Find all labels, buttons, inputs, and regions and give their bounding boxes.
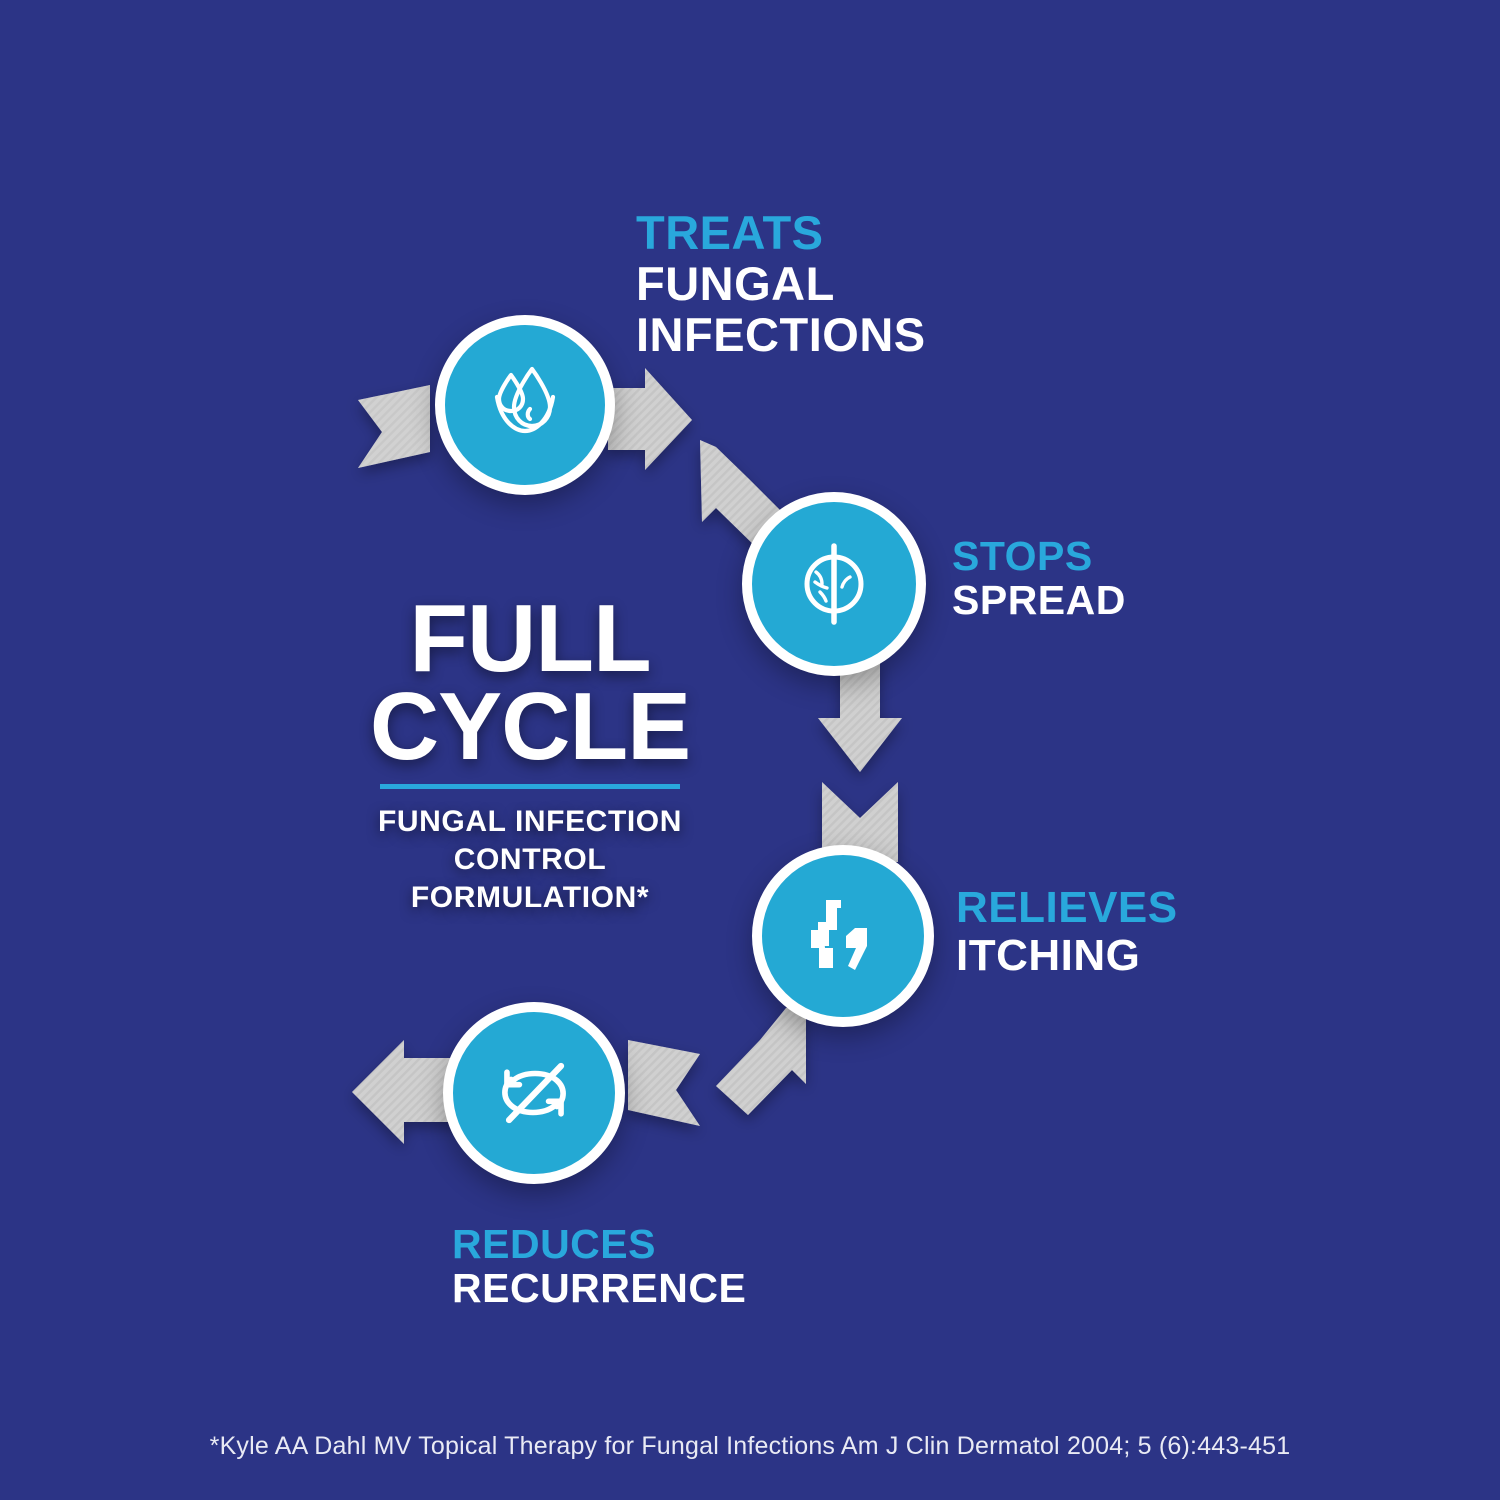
step-circle-treats[interactable] — [435, 315, 615, 495]
label-treats-line1: TREATS — [636, 208, 926, 259]
label-relieves-line2: ITCHING — [956, 932, 1178, 980]
label-treats-line2: FUNGAL — [636, 259, 926, 310]
arrow-itching-to-recurrence — [628, 1002, 806, 1126]
brand-divider — [380, 784, 680, 789]
brand-title-line2: CYCLE — [330, 683, 730, 771]
label-stops-line2: SPREAD — [952, 578, 1126, 622]
brand-title-line1: FULL — [330, 595, 730, 683]
lightning-bolts-icon — [793, 886, 893, 986]
label-relieves-line1: RELIEVES — [956, 884, 1178, 932]
no-recycle-loop-icon — [482, 1041, 586, 1145]
footnote-marker: * — [210, 1432, 220, 1460]
label-stops-line1: STOPS — [952, 534, 1126, 578]
label-treats: TREATS FUNGAL INFECTIONS — [636, 208, 926, 360]
blocked-spore-circle-icon — [784, 534, 884, 634]
footnote: *Kyle AA Dahl MV Topical Therapy for Fun… — [0, 1432, 1500, 1461]
brand-subtitle-line1: FUNGAL INFECTION — [330, 803, 730, 841]
label-stops-spread: STOPS SPREAD — [952, 534, 1126, 623]
infographic-canvas: TREATS FUNGAL INFECTIONS STOPS SPREAD — [0, 0, 1500, 1500]
arrow-stops-to-itching-upper — [818, 660, 902, 772]
arrow-treats-to-stops — [608, 368, 790, 549]
arrow-left-tail-top — [358, 385, 430, 468]
label-relieves-itching: RELIEVES ITCHING — [956, 884, 1178, 979]
label-reduces-line2: RECURRENCE — [452, 1266, 746, 1310]
step-circle-reduces-recurrence[interactable] — [443, 1002, 625, 1184]
step-circle-relieves-itching[interactable] — [752, 845, 934, 1027]
label-reduces-line1: REDUCES — [452, 1222, 746, 1266]
brand-subtitle-line3: FORMULATION* — [330, 879, 730, 917]
brand-subtitle-line2: CONTROL — [330, 841, 730, 879]
footnote-text: Kyle AA Dahl MV Topical Therapy for Fung… — [220, 1432, 1291, 1460]
water-drops-icon — [475, 355, 575, 455]
brand-lockup: FULL CYCLE FUNGAL INFECTION CONTROL FORM… — [330, 595, 730, 918]
label-reduces-recurrence: REDUCES RECURRENCE — [452, 1222, 746, 1311]
step-circle-stops-spread[interactable] — [742, 492, 926, 676]
label-treats-line3: INFECTIONS — [636, 310, 926, 361]
